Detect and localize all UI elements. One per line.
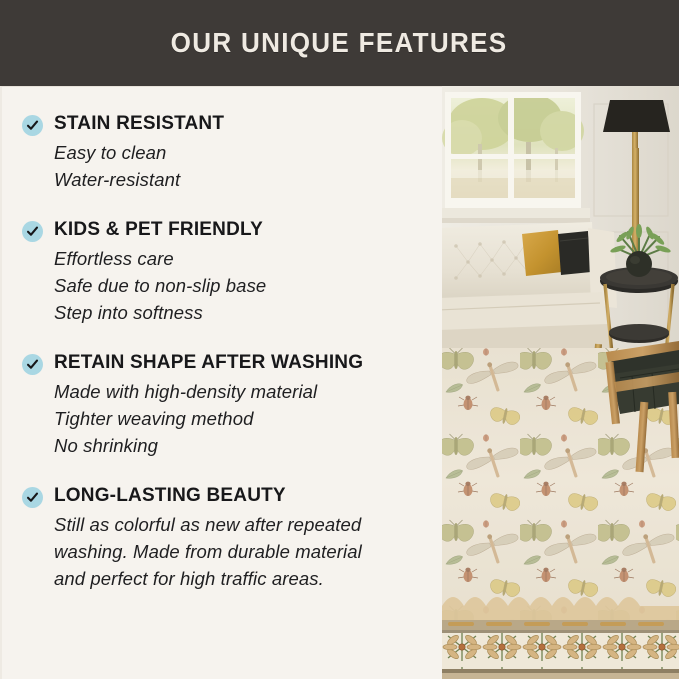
feature-card: OUR UNIQUE FEATURES STAIN RESISTANT Easy… [0, 0, 679, 679]
photo-illustration [442, 86, 679, 679]
feature-line: Still as colorful as new after repeated [54, 511, 430, 538]
card-body: STAIN RESISTANT Easy to clean Water-resi… [0, 86, 679, 679]
check-circle-icon [22, 115, 43, 136]
living-room-rug-photo [442, 86, 679, 679]
feature-title: STAIN RESISTANT [54, 113, 430, 135]
features-panel: STAIN RESISTANT Easy to clean Water-resi… [0, 86, 442, 679]
feature-item: KIDS & PET FRIENDLY Effortless care Safe… [22, 219, 430, 326]
feature-line-list: Still as colorful as new after repeated … [54, 511, 430, 592]
feature-item: RETAIN SHAPE AFTER WASHING Made with hig… [22, 352, 430, 459]
check-circle-icon [22, 487, 43, 508]
feature-line-list: Made with high-density material Tighter … [54, 378, 430, 459]
feature-line: washing. Made from durable material [54, 538, 430, 565]
page-title: OUR UNIQUE FEATURES [171, 27, 508, 59]
feature-line-list: Effortless care Safe due to non-slip bas… [54, 245, 430, 326]
feature-item: STAIN RESISTANT Easy to clean Water-resi… [22, 113, 430, 193]
header-bar: OUR UNIQUE FEATURES [0, 0, 679, 86]
feature-line: Easy to clean [54, 139, 430, 166]
check-circle-icon [22, 354, 43, 375]
feature-line-list: Easy to clean Water-resistant [54, 139, 430, 193]
black-pillow [558, 231, 591, 275]
feature-line: Effortless care [54, 245, 430, 272]
gold-pillow [522, 230, 562, 276]
feature-title: LONG-LASTING BEAUTY [54, 485, 430, 507]
feature-item: LONG-LASTING BEAUTY Still as colorful as… [22, 485, 430, 592]
feature-line: Tighter weaving method [54, 405, 430, 432]
feature-line: No shrinking [54, 432, 430, 459]
feature-line: Safe due to non-slip base [54, 272, 430, 299]
feature-line: and perfect for high traffic areas. [54, 565, 430, 592]
check-circle-icon [22, 221, 43, 242]
feature-line: Step into softness [54, 299, 430, 326]
feature-line: Water-resistant [54, 166, 430, 193]
cream-tufted-sofa [442, 222, 617, 368]
feature-title: KIDS & PET FRIENDLY [54, 219, 430, 241]
feature-title: RETAIN SHAPE AFTER WASHING [54, 352, 430, 374]
rug-floral-border [442, 597, 679, 679]
feature-line: Made with high-density material [54, 378, 430, 405]
